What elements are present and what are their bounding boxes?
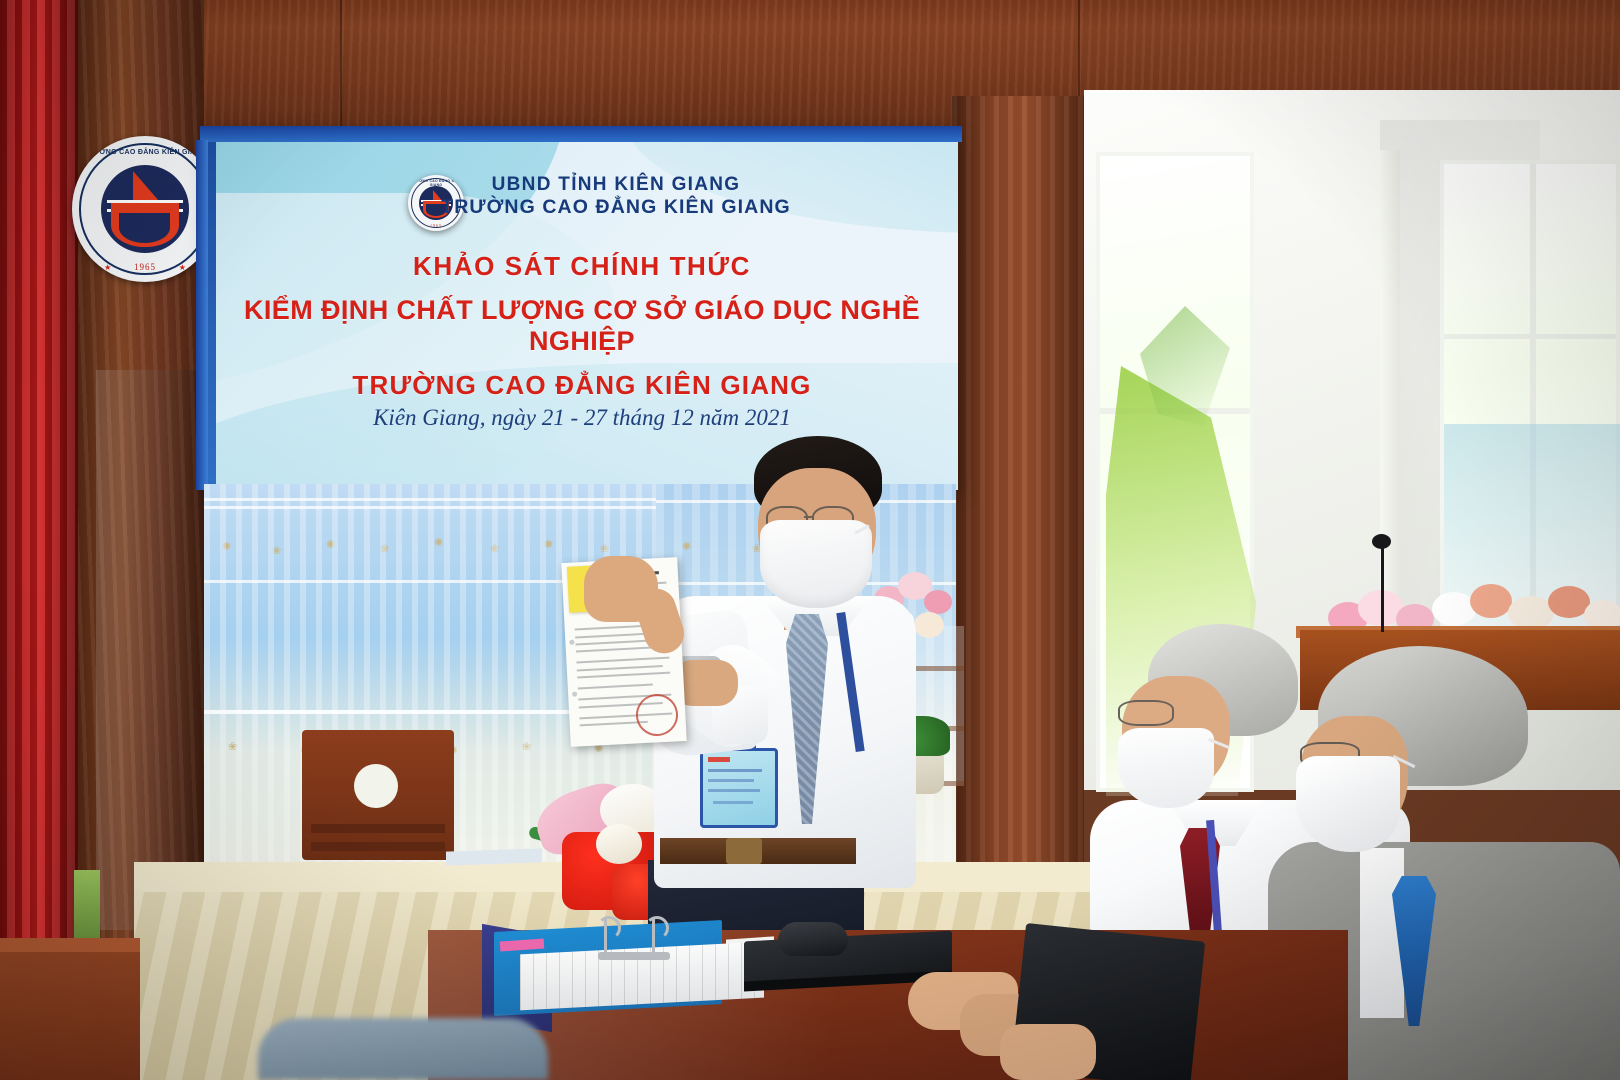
pillar-shading <box>96 370 206 930</box>
side-table <box>0 938 140 1080</box>
speaker-belt-buckle <box>726 838 762 864</box>
foreground-blur-object <box>258 1018 548 1080</box>
banner-seal-year: 1965 <box>408 223 464 228</box>
banner-org-line-2: TRƯỜNG CAO ĐẲNG KIÊN GIANG <box>306 196 926 220</box>
photo-scene: TRƯỜNG CAO ĐẲNG KIÊN GIANG ★ ★ 1965 TRƯỜ… <box>0 0 1620 1080</box>
wood-pillar-center <box>952 96 1084 976</box>
banner-date-line: Kiên Giang, ngày 21 - 27 tháng 12 năm 20… <box>206 405 958 431</box>
official2-face-mask <box>1296 756 1400 852</box>
banner-org-block: UBND TỈNH KIÊN GIANG TRƯỜNG CAO ĐẲNG KIÊ… <box>306 173 926 220</box>
banner-rail-side <box>196 140 208 490</box>
banner-org-line-1: UBND TỈNH KIÊN GIANG <box>306 173 926 196</box>
red-curtain-panel <box>0 0 78 960</box>
banner-title-line-2: KIỂM ĐỊNH CHẤT LƯỢNG CƠ SỞ GIÁO DỤC NGHỀ… <box>206 295 958 357</box>
official1-glasses <box>1118 700 1174 726</box>
microphone-icon <box>1372 534 1391 549</box>
banner-title-line-3: TRƯỜNG CAO ĐẲNG KIÊN GIANG <box>206 370 958 401</box>
banner-title-line-1: KHẢO SÁT CHÍNH THỨC <box>206 251 958 282</box>
official-hand <box>1000 1024 1096 1080</box>
banner-date-block: Kiên Giang, ngày 21 - 27 tháng 12 năm 20… <box>206 405 958 431</box>
speaker-id-badge <box>700 748 778 828</box>
side-table-top <box>0 938 140 952</box>
glasses-bridge <box>804 516 814 518</box>
banner-rail <box>200 126 962 142</box>
wooden-chair <box>302 730 454 860</box>
computer-mouse <box>778 922 848 956</box>
binder-rings <box>598 916 670 958</box>
banner-title-block: KHẢO SÁT CHÍNH THỨC KIỂM ĐỊNH CHẤT LƯỢNG… <box>206 251 958 401</box>
official1-face-mask <box>1118 728 1214 808</box>
